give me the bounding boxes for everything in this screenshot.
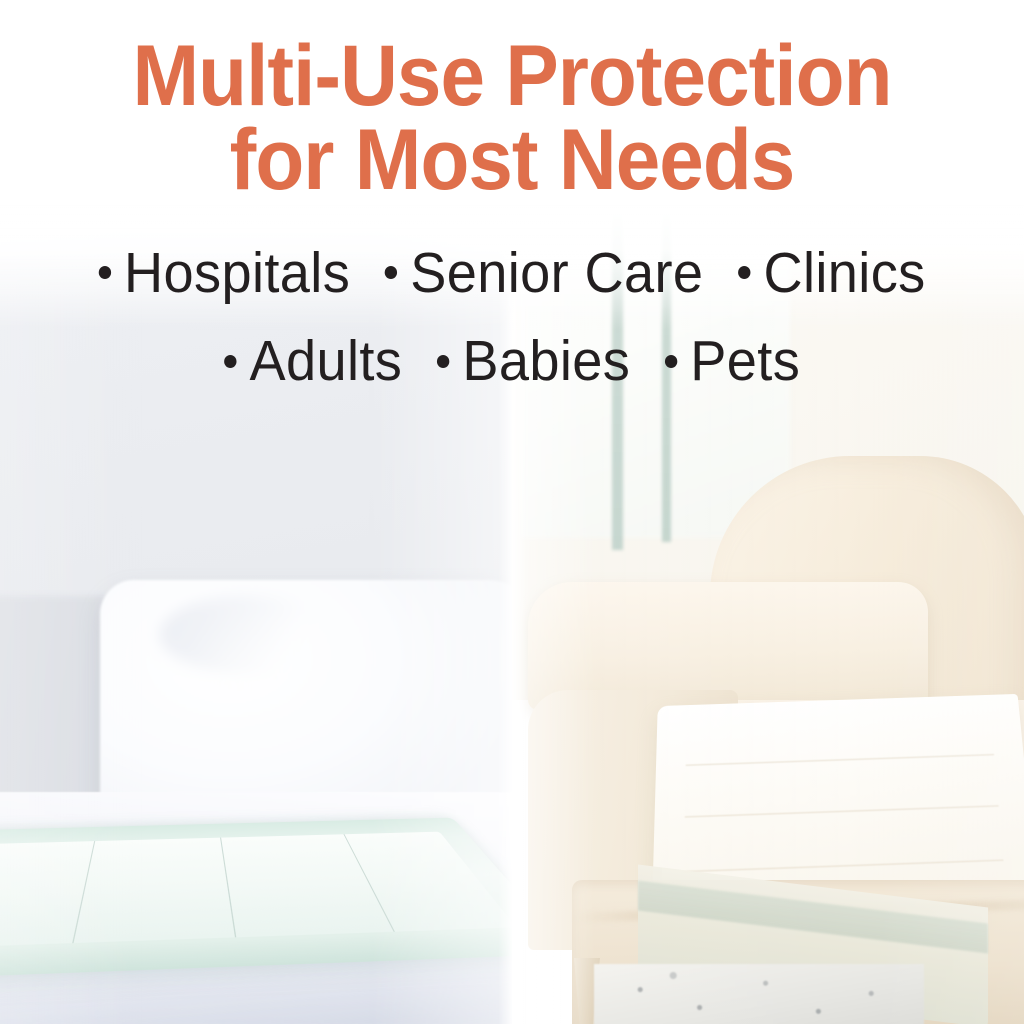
list-item-label: Pets (690, 329, 800, 393)
list-item: Adults (224, 317, 402, 406)
list-item: Senior Care (385, 229, 704, 318)
list-item-label: Hospitals (124, 241, 350, 305)
bullet-dot-icon (738, 266, 750, 279)
bullet-dot-icon (224, 355, 236, 368)
bullet-dot-icon (385, 266, 397, 279)
headline-line-1: Multi-Use Protection (36, 34, 988, 118)
page-title: Multi-Use Protection for Most Needs (36, 0, 988, 203)
use-case-row-1: Hospitals Senior Care Clinics (26, 229, 999, 318)
list-item-label: Clinics (763, 241, 925, 305)
bullet-dot-icon (98, 266, 110, 279)
list-item: Clinics (738, 229, 926, 318)
list-item-label: Babies (462, 329, 630, 393)
product-banner: Multi-Use Protection for Most Needs Hosp… (0, 0, 1024, 1024)
use-case-list: Hospitals Senior Care Clinics Adults Bab… (0, 203, 1024, 407)
list-item: Pets (665, 317, 801, 406)
use-case-row-2: Adults Babies Pets (26, 317, 999, 406)
list-item: Babies (437, 317, 631, 406)
list-item-label: Senior Care (410, 241, 703, 305)
list-item-label: Adults (249, 329, 402, 393)
bullet-dot-icon (665, 355, 677, 368)
headline-line-2: for Most Needs (36, 118, 988, 202)
list-item: Hospitals (98, 229, 350, 318)
banner-text-block: Multi-Use Protection for Most Needs Hosp… (0, 0, 1024, 406)
bullet-dot-icon (437, 355, 449, 368)
